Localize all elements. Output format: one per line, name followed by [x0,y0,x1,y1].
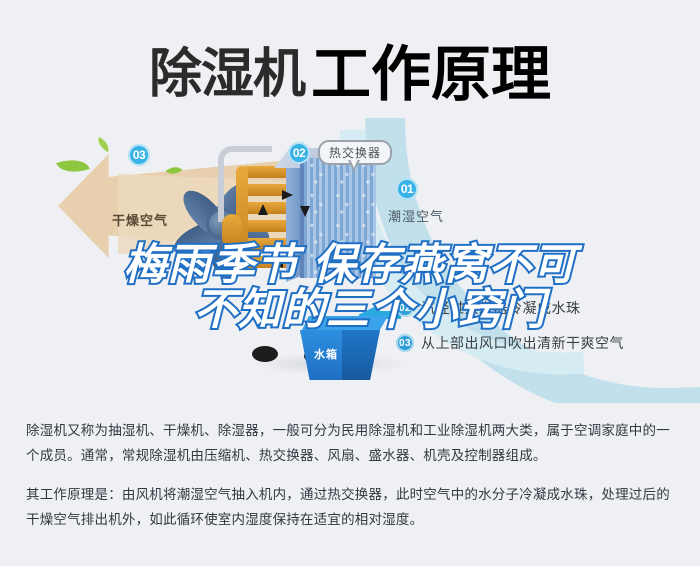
step-text: 汽经过蒸发器冷凝成水珠 [421,298,581,318]
article-paragraph-2: 其工作原理是：由风机将潮湿空气抽入机内，通过热交换器，此时空气中的水分子冷凝成水… [26,482,676,532]
step-number: 03 [396,334,414,352]
water-tank-label: 水箱 [314,346,338,362]
leaf-icon [56,154,89,178]
marker-02-heat-exchanger: 02 [288,142,310,164]
step-list: 02 汽经过蒸发器冷凝成水珠 03 从上部出风口吹出清新干爽空气 [396,298,696,368]
page-title-part1: 除湿机 [149,45,305,104]
marker-03-dry-air: 03 [128,144,150,166]
page-title-part2: 工作原理 [311,41,551,108]
marker-01-humid-air: 01 [396,178,418,200]
list-item: 03 从上部出风口吹出清新干爽空气 [396,333,696,353]
heat-exchanger-callout-pointer [348,160,360,172]
caster-wheel-icon [252,346,278,362]
dry-air-label: 干燥空气 [112,210,168,229]
list-item: 02 汽经过蒸发器冷凝成水珠 [396,298,696,318]
flow-arrow-left-icon [272,258,283,268]
page-title: 除湿机工作原理 [0,26,700,113]
flow-arrow-right-icon [282,190,293,200]
leaf-icon [95,137,112,152]
principle-diagram: 干燥空气 [0,118,700,403]
flow-arrow-up-icon [258,204,268,215]
heat-exchanger-fins [300,158,376,278]
page-root: 除湿机工作原理 干燥空气 [0,0,700,566]
water-tank: 水箱 [300,316,388,378]
article-body: 除湿机又称为抽湿机、干燥机、除湿器，一般可分为民用除湿机和工业除湿机两大类，属于… [26,418,676,546]
flow-arrow-down-icon [300,206,310,217]
step-text: 从上部出风口吹出清新干爽空气 [421,333,624,353]
step-number: 02 [396,299,414,317]
humid-air-label: 潮湿空气 [388,206,444,225]
article-paragraph-1: 除湿机又称为抽湿机、干燥机、除湿器，一般可分为民用除湿机和工业除湿机两大类，属于… [26,418,676,468]
